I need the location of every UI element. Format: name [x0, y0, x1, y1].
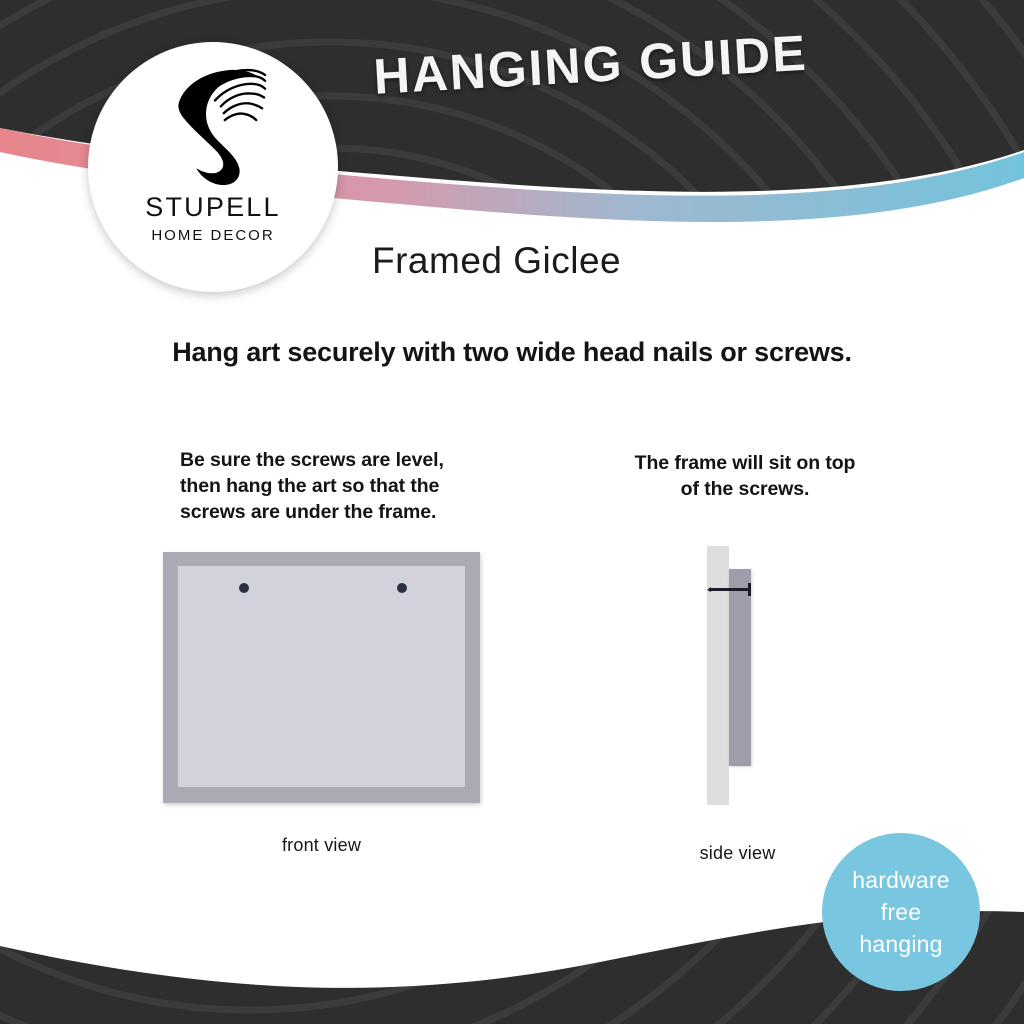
logo-primary-text: STUPELL: [145, 194, 280, 221]
main-instruction-text: Hang art securely with two wide head nai…: [0, 337, 1024, 368]
badge-line-2: free: [881, 896, 921, 928]
nail-head-icon: [748, 583, 751, 596]
side-view-instruction: The frame will sit on top of the screws.: [600, 450, 890, 502]
hardware-free-hanging-badge: hardware free hanging: [822, 833, 980, 991]
badge-line-3: hanging: [859, 928, 942, 960]
screw-dot-right: [397, 583, 407, 593]
front-instruction-line-3: screws are under the frame.: [180, 499, 480, 525]
front-view-instruction: Be sure the screws are level, then hang …: [180, 447, 480, 525]
page-title: HANGING GUIDE: [372, 19, 894, 106]
nail-shaft-icon: [709, 588, 749, 591]
side-instruction-line-1: The frame will sit on top: [600, 450, 890, 476]
front-view-label: front view: [163, 835, 480, 856]
front-instruction-line-1: Be sure the screws are level,: [180, 447, 480, 473]
front-view-diagram: [163, 552, 480, 803]
front-instruction-line-2: then hang the art so that the: [180, 473, 480, 499]
screw-dot-left: [239, 583, 249, 593]
frame-cross-section: [729, 569, 751, 766]
brand-logo-badge: STUPELL HOME DECOR: [88, 42, 338, 292]
side-view-diagram: [707, 546, 767, 805]
frame-artwork-area: [178, 566, 465, 787]
badge-line-1: hardware: [852, 864, 950, 896]
side-instruction-line-2: of the screws.: [600, 476, 890, 502]
side-view-label: side view: [660, 843, 815, 864]
wall-cross-section: [707, 546, 729, 805]
stupell-swoosh-icon: [159, 64, 267, 186]
hanging-guide-page: STUPELL HOME DECOR HANGING GUIDE Framed …: [0, 0, 1024, 1024]
frame-border: [163, 552, 480, 803]
logo-secondary-text: HOME DECOR: [151, 228, 274, 243]
product-type-title: Framed Giclee: [372, 240, 621, 282]
